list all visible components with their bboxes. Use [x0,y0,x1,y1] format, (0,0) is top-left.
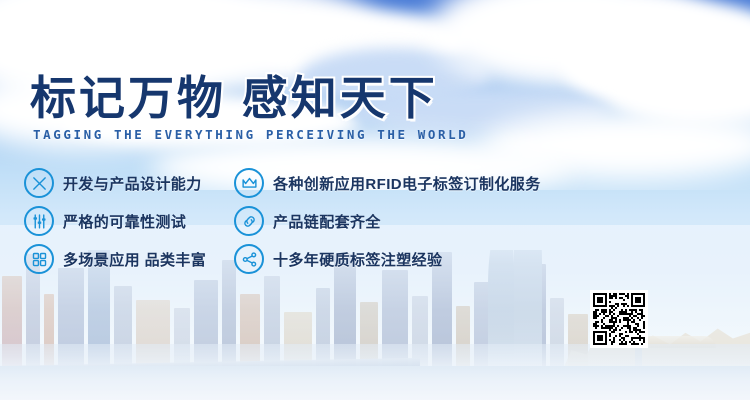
waterfront [0,366,750,400]
grid-icon [24,244,54,274]
feature-item-experience: 十多年硬质标签注塑经验 [234,244,442,274]
feature-label: 开发与产品设计能力 [63,173,202,194]
crown-icon [234,168,264,198]
qr-code[interactable] [590,290,648,348]
share-icon [234,244,264,274]
feature-item-rfid-service: 各种创新应用RFID电子标签订制化服务 [234,168,541,198]
feature-label: 多场景应用 品类丰富 [63,249,206,270]
feature-item-reliability-test: 严格的可靠性测试 [24,206,234,236]
sliders-icon [24,206,54,236]
promotional-banner: 标记万物 感知天下 TAGGING THE EVERYTHING PERCEIV… [0,0,750,400]
feature-list: 开发与产品设计能力 各种创新应用RFID电子标签订制化服务 [24,168,584,282]
feature-row: 开发与产品设计能力 各种创新应用RFID电子标签订制化服务 [24,168,584,206]
feature-item-development: 开发与产品设计能力 [24,168,234,198]
feature-label: 各种创新应用RFID电子标签订制化服务 [273,173,541,194]
tagline: TAGGING THE EVERYTHING PERCEIVING THE WO… [33,127,468,142]
feature-label: 严格的可靠性测试 [63,211,186,232]
feature-item-applications: 多场景应用 品类丰富 [24,244,234,274]
feature-label: 产品链配套齐全 [273,211,381,232]
feature-row: 多场景应用 品类丰富 十多年硬质标签注塑经验 [24,244,584,282]
link-icon [234,206,264,236]
feature-item-supply-chain: 产品链配套齐全 [234,206,381,236]
headline: 标记万物 感知天下 [30,75,438,121]
feature-label: 十多年硬质标签注塑经验 [273,249,442,270]
feature-row: 严格的可靠性测试 产品链配套齐全 [24,206,584,244]
tools-icon [24,168,54,198]
